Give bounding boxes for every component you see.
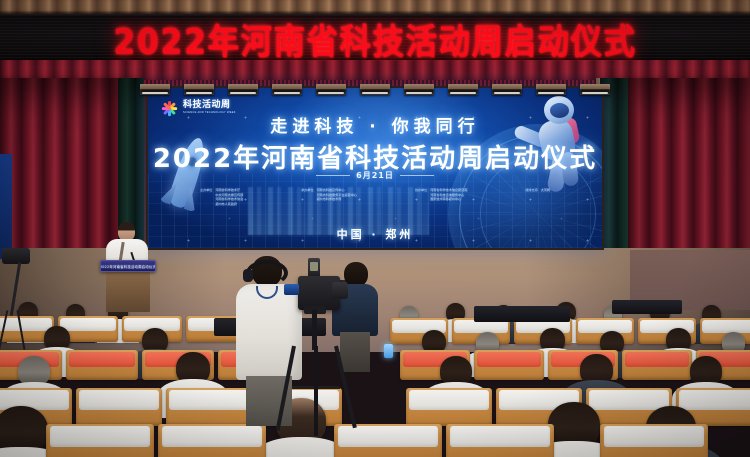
- stage-light-fixture: [448, 84, 478, 95]
- audience-person: [0, 406, 48, 454]
- camera-monitor-screen: [284, 284, 299, 295]
- floor-equipment-case: [474, 306, 570, 322]
- organizer-column: 承办单位 河南省科技宣传中心 河南省科技服务平台运营中心 郑州市科学技术局: [301, 188, 357, 202]
- organizer-column: 主办单位 河南省科学技术厅 中共河南省委宣传部 河南省科学技术协会 郑州市人民政…: [200, 188, 243, 207]
- organizer-label: 协办单位: [415, 188, 427, 202]
- logo-chinese-name: 科技活动周: [183, 101, 236, 110]
- screen-date: 6月21日: [356, 170, 394, 181]
- organizer-label: 承办单位: [301, 188, 313, 202]
- stage-light-fixture: [272, 84, 302, 95]
- auditorium-seat[interactable]: [600, 424, 708, 457]
- headphone-cup-icon: [243, 269, 253, 282]
- organizer-line: 郑州市人民政府: [215, 202, 243, 207]
- auditorium-seat[interactable]: [622, 350, 692, 380]
- side-camera-body: [2, 248, 30, 264]
- date-rule-right: [400, 175, 434, 176]
- side-tripod-leg: [0, 310, 8, 351]
- tripod-leg: [314, 346, 318, 436]
- auditorium-seat[interactable]: [46, 424, 154, 457]
- organizer-column: 协办单位 河南省科学技术信息研究院 河南省科技咨询服务中心 国家技术转移郑州中心: [415, 188, 468, 202]
- stage-light-fixture: [140, 84, 170, 95]
- stage-light-fixture: [228, 84, 258, 95]
- organizer-lines: 河南省科技宣传中心 河南省科技服务平台运营中心 郑州市科学技术局: [317, 188, 357, 202]
- auditorium-seat[interactable]: [334, 424, 442, 457]
- auditorium-seat[interactable]: [474, 350, 544, 380]
- date-rule-left: [316, 175, 350, 176]
- organizer-label: 媒体支持: [525, 188, 537, 193]
- audience-person: [580, 354, 613, 385]
- auditorium-photo: 2022年河南省科技活动周启动仪式: [0, 0, 750, 457]
- side-camera-pole: [10, 262, 21, 316]
- camera-lens-icon: [332, 282, 348, 299]
- organizer-label: 主办单位: [200, 188, 212, 207]
- side-tripod-leg: [17, 310, 26, 350]
- screen-location: 中国 · 郑州: [148, 226, 602, 242]
- tripod-column: [312, 310, 317, 350]
- floor-equipment-case: [612, 300, 682, 314]
- video-camera-on-tripod: [286, 258, 348, 438]
- auditorium-seat[interactable]: [446, 424, 554, 457]
- podium-banner-text: 2022年河南省科技活动周启动仪式: [101, 261, 155, 271]
- audience-person: [440, 356, 472, 386]
- audience-person: [18, 356, 50, 386]
- audience-person: [690, 356, 722, 386]
- venue-led-title-banner: 2022年河南省科技活动周启动仪式: [0, 14, 750, 62]
- stage-light-fixture: [492, 84, 522, 95]
- audience-person: [44, 326, 70, 351]
- organizer-column: 媒体支持 大河网: [525, 188, 550, 193]
- side-blue-panel: [0, 154, 12, 259]
- podium-banner: 2022年河南省科技活动周启动仪式: [100, 260, 156, 272]
- stage-light-bar: [140, 84, 610, 97]
- audience-person: [540, 328, 565, 352]
- podium-with-speaker: 2022年河南省科技活动周启动仪式: [88, 222, 168, 312]
- auditorium-seat[interactable]: [76, 388, 162, 426]
- organizer-line: 大河网: [541, 188, 550, 193]
- screen-slogan: 走进科技 · 你我同行: [148, 112, 602, 137]
- stage-light-fixture: [536, 84, 566, 95]
- organizer-lines: 大河网: [541, 188, 550, 193]
- podium-body: [106, 266, 150, 312]
- audience-person: [666, 328, 691, 352]
- organizer-line: 国家技术转移郑州中心: [430, 197, 467, 202]
- audience-phone-screen: [384, 344, 393, 358]
- stage-light-fixture: [316, 84, 346, 95]
- audience-person: [176, 352, 210, 384]
- stage-light-fixture: [184, 84, 214, 95]
- venue-banner-text: 2022年河南省科技活动周启动仪式: [113, 14, 636, 62]
- organizer-lines: 河南省科学技术信息研究院 河南省科技咨询服务中心 国家技术转移郑州中心: [430, 188, 467, 202]
- side-camera-rig: [0, 244, 46, 354]
- auditorium-seat[interactable]: [66, 350, 138, 380]
- auditorium-seat[interactable]: [406, 388, 492, 426]
- stage-led-screen: 科技活动周 SCIENCE AND TECHNOLOGY WEEK 走进科技 ·…: [146, 86, 604, 250]
- stage-light-fixture: [580, 84, 610, 95]
- camera-viewfinder-icon: [308, 258, 320, 278]
- organizer-line: 郑州市科学技术局: [317, 197, 357, 202]
- screen-date-row: 6月21日: [148, 170, 602, 181]
- organizer-lines: 河南省科学技术厅 中共河南省委宣传部 河南省科学技术协会 郑州市人民政府: [215, 188, 243, 207]
- stage-light-fixture: [360, 84, 390, 95]
- stage-light-fixture: [404, 84, 434, 95]
- audience-person: [548, 402, 600, 448]
- screen-organizer-block: 主办单位 河南省科学技术厅 中共河南省委宣传部 河南省科学技术协会 郑州市人民政…: [200, 188, 550, 207]
